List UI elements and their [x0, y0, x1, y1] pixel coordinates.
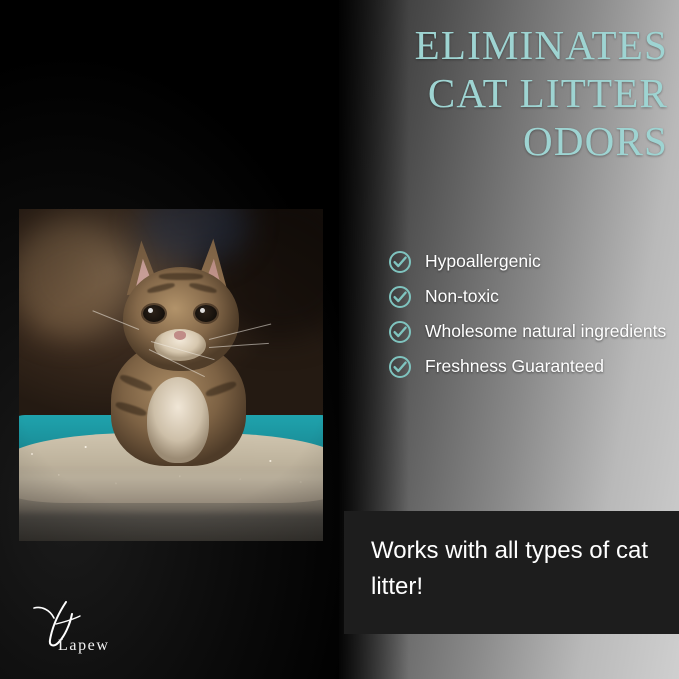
feature-label: Hypoallergenic: [425, 250, 541, 274]
check-circle-icon: [388, 285, 412, 309]
headline-line-1: ELIMINATES: [300, 22, 668, 70]
feature-item: Hypoallergenic: [388, 250, 673, 274]
feature-item: Wholesome natural ingredients: [388, 320, 673, 344]
check-circle-icon: [388, 320, 412, 344]
headline-line-3: ODORS: [300, 118, 668, 166]
photo-vignette: [19, 209, 323, 541]
feature-item: Non-toxic: [388, 285, 673, 309]
feature-label: Freshness Guaranteed: [425, 355, 604, 379]
check-circle-icon: [388, 250, 412, 274]
feature-item: Freshness Guaranteed: [388, 355, 673, 379]
product-ad-image: ELIMINATES CAT LITTER ODORS Hypoallergen…: [0, 0, 679, 679]
headline-line-2: CAT LITTER: [300, 70, 668, 118]
headline: ELIMINATES CAT LITTER ODORS: [300, 22, 668, 166]
feature-list: Hypoallergenic Non-toxic Wholesome natur…: [388, 250, 673, 390]
kitten-litterbox-photo: [19, 209, 323, 541]
callout-text: Works with all types of cat litter!: [371, 533, 661, 606]
feature-label: Non-toxic: [425, 285, 499, 309]
callout-box: Works with all types of cat litter!: [344, 511, 679, 634]
check-circle-icon: [388, 355, 412, 379]
brand-name: Lapew: [58, 637, 110, 655]
feature-label: Wholesome natural ingredients: [425, 320, 666, 344]
